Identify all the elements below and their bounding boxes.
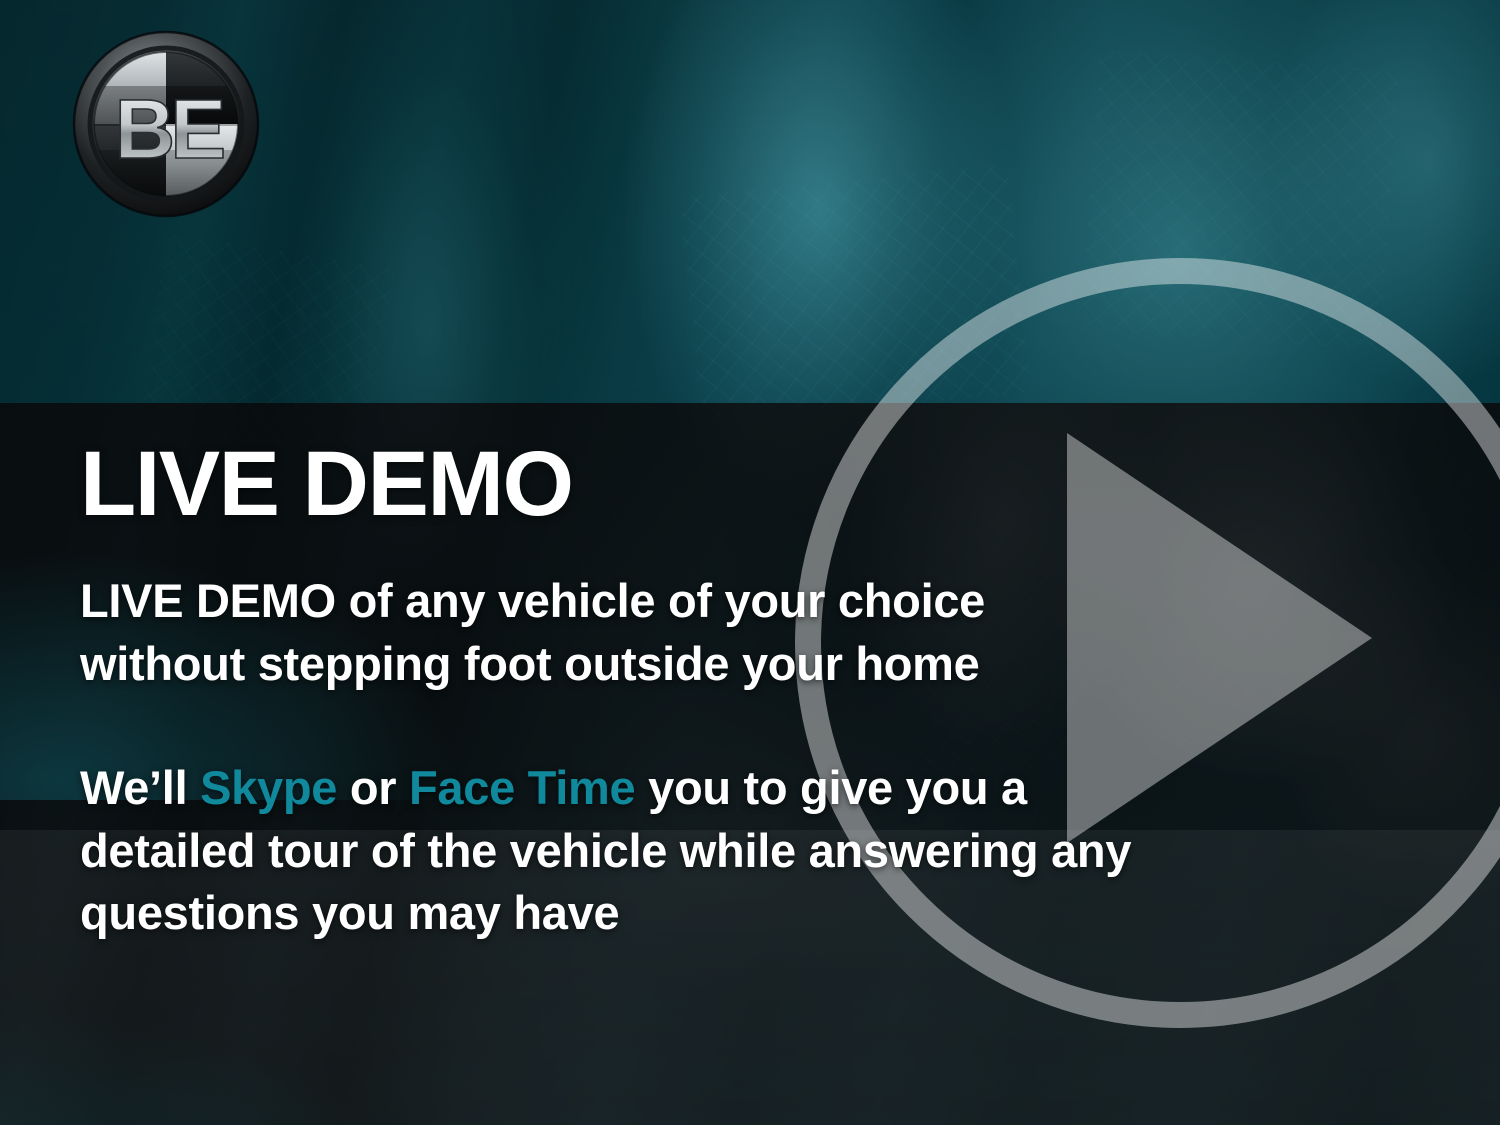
- quilted-seat-texture: [1234, 464, 1476, 716]
- logo-letters: BE: [115, 82, 224, 176]
- highlighted-term: Skype: [200, 761, 337, 814]
- paragraph-text: We’ll: [80, 761, 200, 814]
- paragraph-2: We’ll Skype or Face Time you to give you…: [80, 757, 1140, 945]
- paragraph-text: LIVE DEMO of any vehicle of your choice …: [80, 574, 985, 690]
- highlighted-term: Face Time: [409, 761, 635, 814]
- paragraph-1: LIVE DEMO of any vehicle of your choice …: [80, 570, 1140, 695]
- paragraph-text: or: [337, 761, 409, 814]
- slide-text-block: LIVE DEMO LIVE DEMO of any vehicle of yo…: [80, 438, 1140, 945]
- page-title: LIVE DEMO: [80, 438, 1140, 530]
- quilted-seat-texture: [1081, 50, 1400, 350]
- quilted-seat-texture: [679, 163, 1031, 426]
- be-roundel-logo[interactable]: BE: [72, 30, 260, 218]
- live-demo-slide: Play: [0, 0, 1500, 1125]
